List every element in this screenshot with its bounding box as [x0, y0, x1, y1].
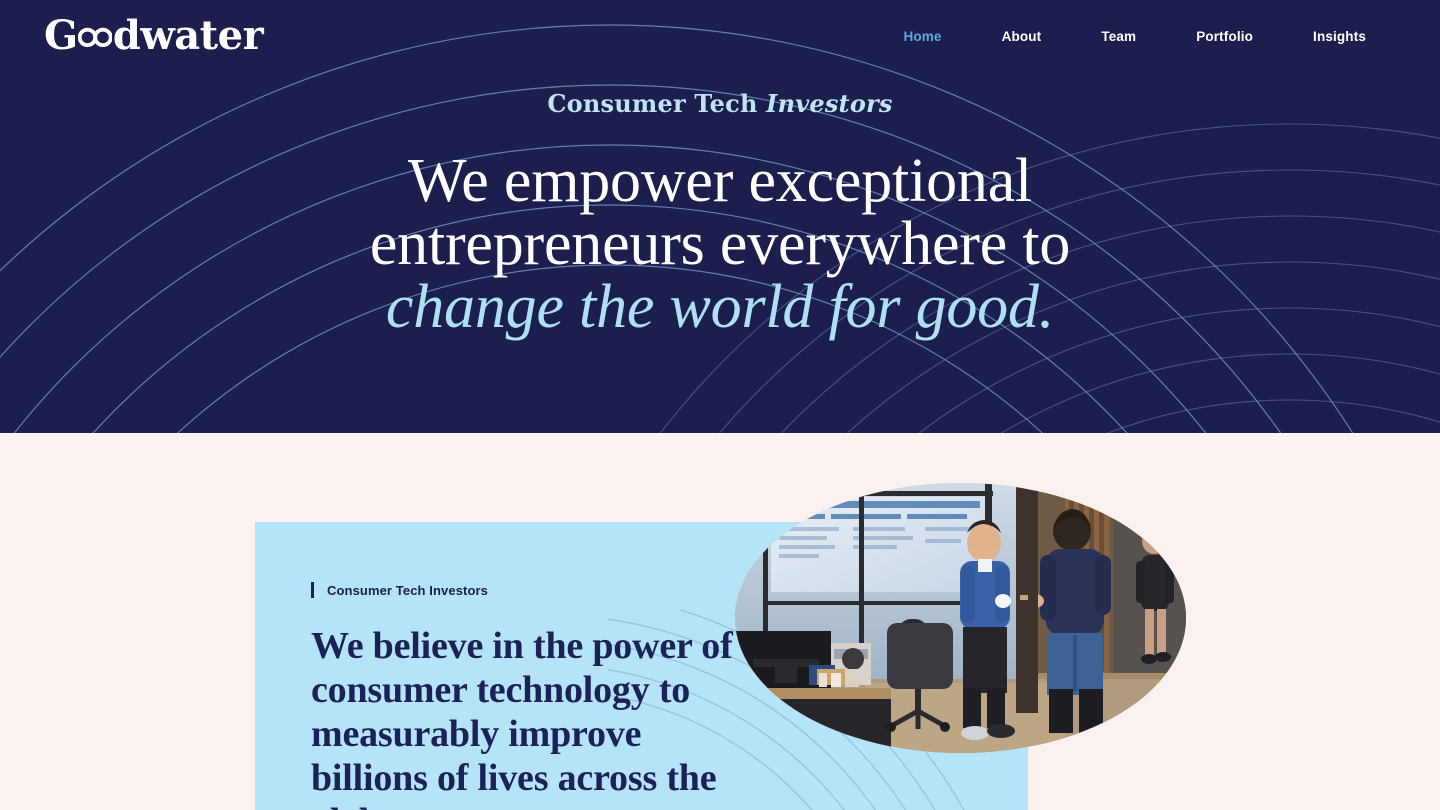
- logo-text-dwater: dwater: [113, 16, 263, 56]
- kicker-bar-icon: [311, 582, 314, 598]
- belief-kicker-label: Consumer Tech Investors: [327, 583, 488, 598]
- nav-item-team[interactable]: Team: [1071, 21, 1166, 52]
- hero-eyebrow-regular: Consumer Tech: [547, 89, 766, 118]
- logo-text-g: G: [44, 16, 78, 56]
- office-photo-illustration: [735, 483, 1186, 753]
- hero-eyebrow-italic: Investors: [766, 89, 892, 118]
- hero-headline: We empower exceptional entrepreneurs eve…: [340, 150, 1100, 340]
- nav-item-home[interactable]: Home: [873, 21, 971, 52]
- nav-item-about[interactable]: About: [972, 21, 1072, 52]
- hero-headline-line-1: We empower exceptional: [408, 147, 1032, 215]
- belief-heading: We believe in the power of consumer tech…: [311, 624, 741, 810]
- hero-eyebrow: Consumer Tech Investors: [547, 92, 892, 116]
- hero-headline-accent: change the world for good.: [340, 276, 1100, 339]
- brand-logo[interactable]: G dwater: [44, 16, 263, 56]
- belief-section: Consumer Tech Investors We believe in th…: [0, 433, 1440, 810]
- main-navigation: G dwater Home About Team Portfolio Insig…: [0, 0, 1440, 72]
- nav-links: Home About Team Portfolio Insights: [873, 21, 1396, 52]
- nav-item-portfolio[interactable]: Portfolio: [1166, 21, 1283, 52]
- logo-infinity-oo-icon: [78, 27, 112, 48]
- hero-headline-line-2: entrepreneurs everywhere to: [370, 210, 1070, 278]
- nav-item-insights[interactable]: Insights: [1283, 21, 1396, 52]
- belief-kicker: Consumer Tech Investors: [311, 582, 741, 598]
- landing-page: G dwater Home About Team Portfolio Insig…: [0, 0, 1440, 810]
- hero-section: G dwater Home About Team Portfolio Insig…: [0, 0, 1440, 433]
- office-photo: [735, 483, 1186, 753]
- belief-card-content: Consumer Tech Investors We believe in th…: [311, 582, 741, 810]
